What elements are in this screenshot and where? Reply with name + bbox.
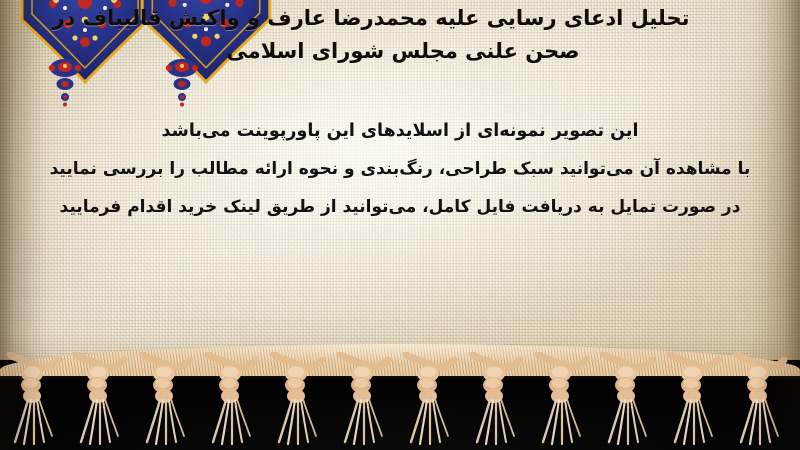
fringe-tassel [732,352,788,448]
fringe-tassel [72,352,128,448]
slide-title-line-2: صحن علنی مجلس شورای اسلامی [0,35,800,68]
fringe-tassel [336,352,392,448]
fringe-tassel [666,352,722,448]
fringe-tassel [138,352,194,448]
presentation-slide: تحلیل ادعای رسایی علیه محمدرضا عارف و وا… [0,0,800,450]
slide-body-line-2: با مشاهده آن می‌توانید سبک طراحی، رنگ‌بن… [0,150,800,188]
slide-body-line-3: در صورت تمایل به دریافت فایل کامل، می‌تو… [0,188,800,226]
slide-body-line-1: این تصویر نمونه‌ای از اسلایدهای این پاور… [0,112,800,150]
fringe-tassel [402,352,458,448]
fringe-tassel [6,352,62,448]
fringe-tassel [270,352,326,448]
slide-title: تحلیل ادعای رسایی علیه محمدرضا عارف و وا… [0,2,800,68]
fringe-tassel [534,352,590,448]
slide-title-line-1: تحلیل ادعای رسایی علیه محمدرضا عارف و وا… [0,2,742,35]
fringe-tassel [204,352,260,448]
fringe-tassel [600,352,656,448]
slide-body: این تصویر نمونه‌ای از اسلایدهای این پاور… [0,112,800,226]
fringe-tassel [468,352,524,448]
